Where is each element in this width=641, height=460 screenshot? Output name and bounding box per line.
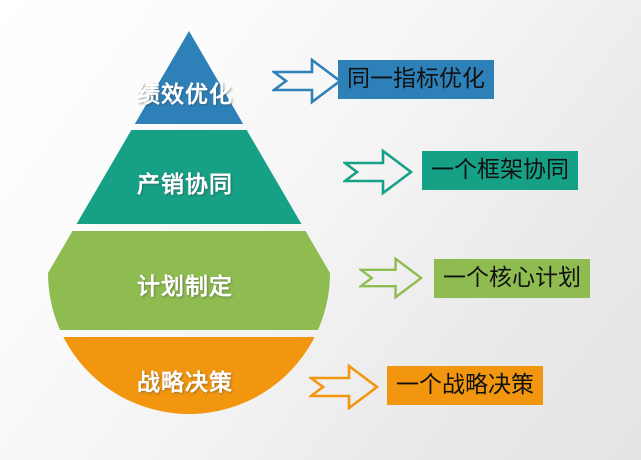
callout-coordination: 一个框架协同	[422, 151, 578, 190]
arrow-performance	[272, 56, 342, 106]
arrow-strategy	[309, 362, 379, 412]
callout-strategy: 一个战略决策	[387, 366, 543, 405]
callout-planning: 一个核心计划	[434, 259, 590, 298]
callout-performance: 同一指标优化	[338, 60, 494, 99]
diagram-canvas: 绩效优化 产销协同 计划制定 战略决策 同一指标优化 一个框架协同 一个核心计划…	[0, 0, 641, 460]
arrow-coordination	[343, 147, 413, 197]
arrow-planning	[359, 255, 423, 301]
